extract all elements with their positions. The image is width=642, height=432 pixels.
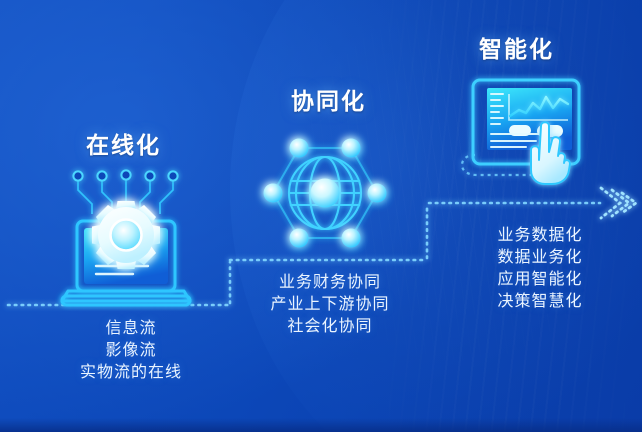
stage-list-intelligent: 业务数据化 数据业务化 应用智能化 决策智慧化 [455,225,625,313]
stage-list-item: 应用智能化 [455,269,625,291]
stage-list-item: 业务数据化 [455,225,625,247]
tablet-dashboard-hand-icon [0,0,642,432]
stage-list-item: 数据业务化 [455,247,625,269]
stage-list-item: 决策智慧化 [455,291,625,313]
infographic-canvas: 在线化 [0,0,642,432]
